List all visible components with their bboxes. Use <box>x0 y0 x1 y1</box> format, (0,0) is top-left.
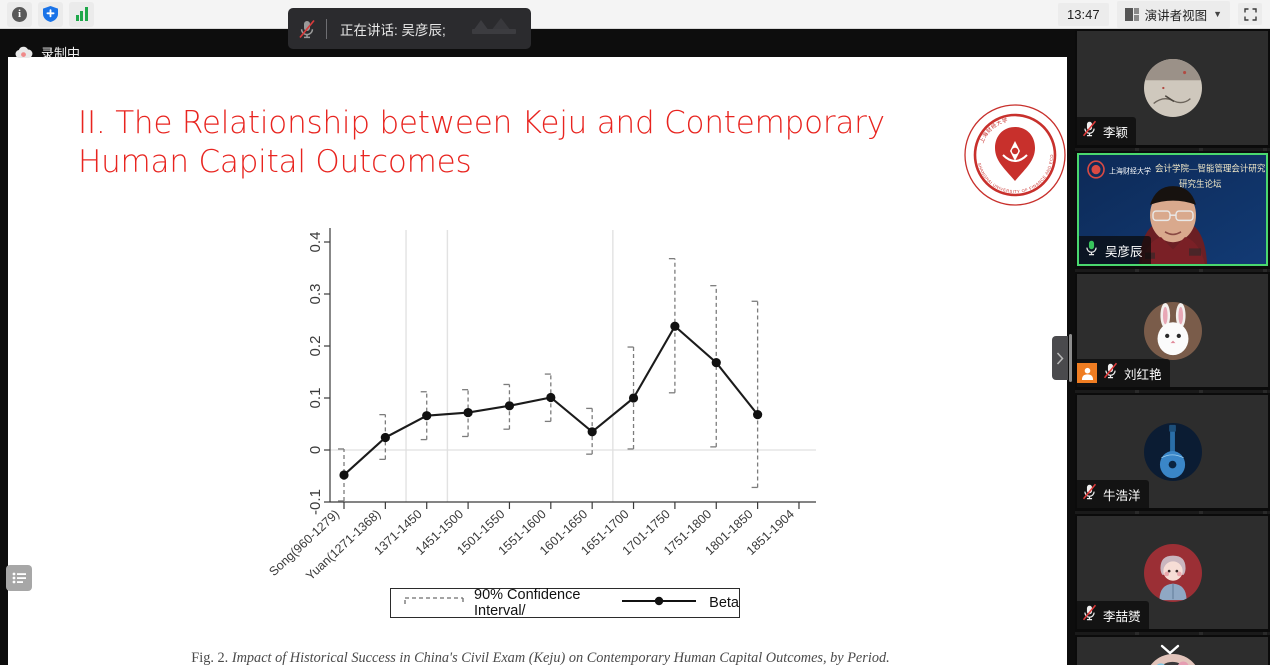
legend-label-ci: 90% Confidence Interval/ <box>474 587 595 619</box>
chart-beta-point <box>339 470 348 479</box>
chart-y-tick-label: 0.1 <box>307 388 324 409</box>
avatar <box>1144 544 1202 602</box>
host-badge <box>1077 363 1097 383</box>
legend-dashed-swatch <box>403 595 465 611</box>
slide-title: II. The Relationship between Keju and Co… <box>78 104 958 182</box>
signal-bars-icon[interactable] <box>69 2 94 27</box>
avatar <box>1144 423 1202 481</box>
tile-separator <box>1075 148 1270 151</box>
muted-mic-icon <box>288 19 326 39</box>
figure-number: Fig. 2. <box>191 650 228 665</box>
info-icon[interactable]: i <box>7 2 32 27</box>
speaking-label: 正在讲话: 吴彦辰; <box>327 19 446 39</box>
clock: 13:47 <box>1058 3 1109 26</box>
shanghai-university-of-finance-and-economics-logo: 上海财经大学 SHANGHAI UNIVERSITY OF FINANCE AN… <box>963 103 1067 207</box>
recording-label: 录制中 <box>41 43 80 62</box>
muted-mic-icon <box>1081 120 1098 137</box>
mic-status-icon[interactable] <box>1081 483 1098 505</box>
participant-name-bar: 刘红艳 <box>1077 359 1170 387</box>
keju-beta-line-chart: -0.100.10.20.30.4Song(960-1279)Yuan(1271… <box>258 212 838 612</box>
participant-list-button[interactable] <box>6 565 32 591</box>
toolbar-right-group: 13:47 演讲者视图 ▼ <box>1058 0 1270 28</box>
participant-tile[interactable]: 牛浩洋 <box>1077 395 1268 508</box>
legend-solid-swatch <box>621 595 697 611</box>
chart-legend: 90% Confidence Interval/ Beta <box>390 588 740 618</box>
chart-y-tick-label: 0.4 <box>307 232 324 253</box>
chart-beta-point <box>422 411 431 420</box>
participant-tile[interactable]: 上海财经大学 会计学院—智能管理会计研究院 研究生论坛 吴彦辰 <box>1077 153 1268 266</box>
fullscreen-icon <box>1244 8 1257 21</box>
svg-text:研究生论坛: 研究生论坛 <box>1179 178 1222 189</box>
mic-status-icon[interactable] <box>1083 239 1100 261</box>
participant-tile[interactable]: 李喆赟 <box>1077 516 1268 629</box>
active-speaker-banner: 正在讲话: 吴彦辰; <box>288 8 531 49</box>
tile-separator <box>1075 269 1270 272</box>
chart-y-tick-label: 0.3 <box>307 284 324 305</box>
participant-name: 李颖 <box>1103 122 1128 141</box>
muted-mic-icon <box>1102 362 1119 379</box>
chart-y-tick-label: 0 <box>307 446 324 454</box>
figure-caption-text: Impact of Historical Success in China's … <box>232 650 890 665</box>
participant-name-bar: 李颖 <box>1077 117 1136 145</box>
participant-name: 牛浩洋 <box>1103 485 1141 504</box>
mic-status-icon[interactable] <box>1102 362 1119 384</box>
chart-beta-point <box>546 393 555 402</box>
tile-separator <box>1075 632 1270 635</box>
browser-toolbar: i 13:47 演讲者视图 ▼ <box>0 0 1270 29</box>
participant-list-icon <box>12 572 27 584</box>
participant-name: 刘红艳 <box>1124 364 1162 383</box>
chart-y-tick-label: 0.2 <box>307 336 324 357</box>
cloud-record-icon <box>14 46 33 59</box>
zoom-meeting-window: i 13:47 演讲者视图 ▼ <box>0 0 1270 665</box>
svg-text:上海财经大学: 上海财经大学 <box>1109 167 1151 176</box>
view-mode-label: 演讲者视图 <box>1145 5 1208 24</box>
avatar <box>1144 302 1202 360</box>
fullscreen-button[interactable] <box>1238 3 1262 25</box>
chart-y-tick-label: -0.1 <box>307 489 324 515</box>
chart-beta-point <box>381 433 390 442</box>
participant-name-bar: 吴彦辰 <box>1079 236 1151 264</box>
participant-tile[interactable]: 李颖 <box>1077 31 1268 145</box>
participant-name-bar: 李喆赟 <box>1077 601 1149 629</box>
participant-tile[interactable]: 刘红艳 <box>1077 274 1268 387</box>
avatar <box>1144 59 1202 117</box>
chevron-down-icon: ▼ <box>1213 9 1222 19</box>
chart-beta-point <box>670 322 679 331</box>
chart-x-tick-label: Yuan(1271-1368) <box>303 507 383 583</box>
figure-2-chart: -0.100.10.20.30.4Song(960-1279)Yuan(1271… <box>258 212 838 612</box>
participant-name-bar: 牛浩洋 <box>1077 480 1149 508</box>
legend-label-beta: Beta <box>709 595 739 611</box>
participant-video-strip[interactable]: 李颖 上海财经大学 会计学院—智能管理会计研究院 研究生论坛 吴彦辰 <box>1075 29 1270 665</box>
tile-separator <box>1075 511 1270 514</box>
muted-mic-icon <box>1081 604 1098 621</box>
chart-beta-point <box>505 401 514 410</box>
mic-active-icon <box>1083 239 1100 256</box>
speaker-view-icon <box>1125 8 1139 21</box>
chevron-right-icon <box>1056 352 1064 365</box>
host-person-icon <box>1081 367 1094 380</box>
chart-beta-point <box>463 408 472 417</box>
participant-name: 吴彦辰 <box>1105 241 1143 260</box>
figure-caption: Fig. 2. Impact of Historical Success in … <box>168 649 913 665</box>
participant-name: 李喆赟 <box>1103 606 1141 625</box>
shield-plus-icon[interactable] <box>38 2 63 27</box>
shared-screen-area: 录制中 II. The Relationship between Keju an… <box>0 29 1075 665</box>
tile-separator <box>1075 390 1270 393</box>
mic-status-icon[interactable] <box>1081 120 1098 142</box>
muted-mic-icon <box>1081 483 1098 500</box>
chart-beta-point <box>629 393 638 402</box>
presentation-slide: II. The Relationship between Keju and Co… <box>8 57 1067 665</box>
chart-beta-point <box>712 358 721 367</box>
recording-indicator: 录制中 <box>14 43 80 62</box>
collapse-panel-button[interactable] <box>1052 336 1068 380</box>
chart-beta-point <box>588 427 597 436</box>
chart-beta-point <box>753 410 762 419</box>
toolbar-icon-group: i <box>0 2 94 27</box>
panel-drag-handle[interactable] <box>1069 334 1072 382</box>
audio-wave-icon <box>471 15 517 42</box>
mic-status-icon[interactable] <box>1081 604 1098 626</box>
svg-text:会计学院—智能管理会计研究院: 会计学院—智能管理会计研究院 <box>1155 162 1266 173</box>
view-mode-selector[interactable]: 演讲者视图 ▼ <box>1117 1 1230 28</box>
chart-x-tick-label: Song(960-1279) <box>266 507 342 579</box>
